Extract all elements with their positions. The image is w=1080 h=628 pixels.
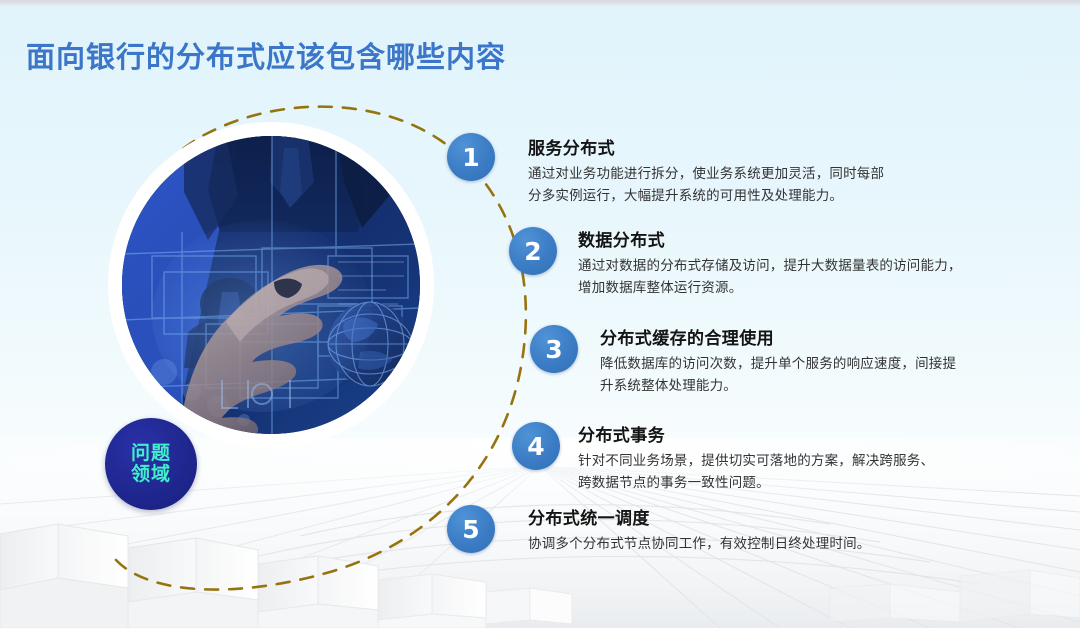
- domain-badge-line2: 领域: [131, 464, 171, 485]
- item-heading: 分布式缓存的合理使用: [600, 328, 1020, 349]
- center-photo-circle: [108, 122, 434, 448]
- item-number-badge: 3: [530, 325, 578, 373]
- photo-clip: [122, 136, 420, 434]
- item-heading: 数据分布式: [578, 230, 1018, 251]
- item-number-badge: 5: [447, 505, 495, 553]
- domain-badge-line1: 问题: [131, 443, 171, 464]
- item-description: 协调多个分布式节点协同工作，有效控制日终处理时间。: [528, 533, 958, 555]
- item-description: 降低数据库的访问次数，提升单个服务的响应速度，间接提 升系统整体处理能力。: [600, 353, 1020, 397]
- item-number-badge: 2: [509, 227, 557, 275]
- item-description: 通过对数据的分布式存储及访问，提升大数据量表的访问能力， 增加数据库整体运行资源…: [578, 255, 1018, 299]
- slide-root: 面向银行的分布式应该包含哪些内容: [0, 0, 1080, 628]
- technology-photo: [122, 136, 420, 434]
- item-heading: 分布式事务: [578, 425, 1008, 446]
- item-number-badge: 1: [447, 133, 495, 181]
- item-number-badge: 4: [512, 422, 560, 470]
- item-heading: 服务分布式: [528, 138, 948, 159]
- problem-domain-badge: 问题 领域: [105, 418, 197, 510]
- item-heading: 分布式统一调度: [528, 508, 958, 529]
- page-title: 面向银行的分布式应该包含哪些内容: [26, 34, 506, 76]
- item-description: 通过对业务功能进行拆分，使业务系统更加灵活，同时每部 分多实例运行，大幅提升系统…: [528, 163, 948, 207]
- top-edge-strip: [0, 0, 1080, 6]
- item-description: 针对不同业务场景，提供切实可落地的方案，解决跨服务、 跨数据节点的事务一致性问题…: [578, 450, 1008, 494]
